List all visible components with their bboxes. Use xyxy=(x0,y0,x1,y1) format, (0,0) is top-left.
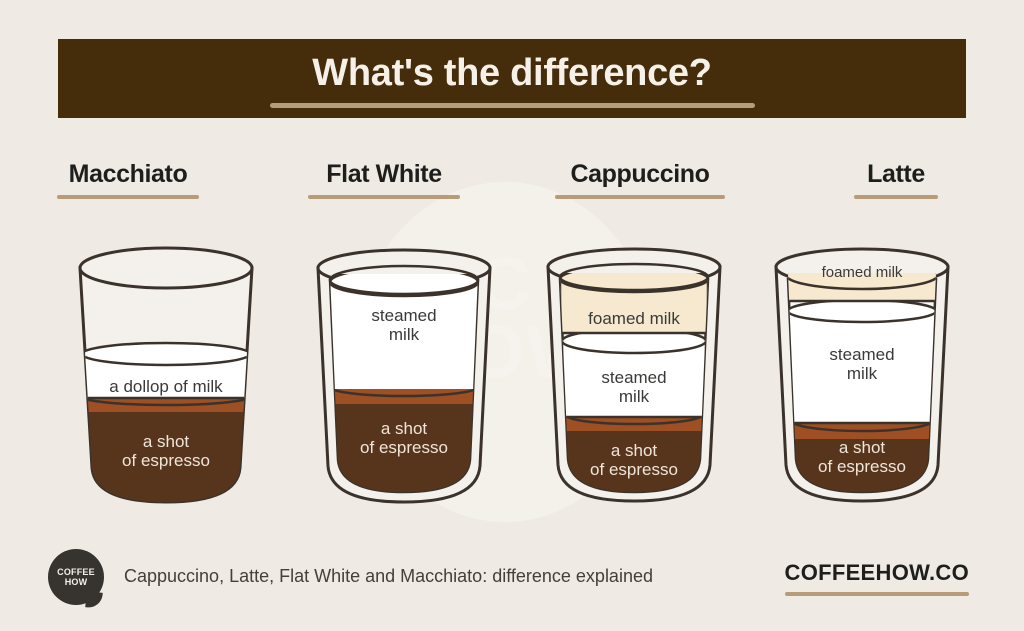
title-banner: What's the difference? xyxy=(58,39,966,118)
glass-latte xyxy=(762,249,962,514)
coffeehow-logo[interactable]: COFFEE HOW xyxy=(48,549,104,605)
infographic-page: C HOW What's the difference? Macchiato F… xyxy=(0,0,1024,631)
glass-cappuccino xyxy=(534,249,734,514)
column-heading-cappuccino: Cappuccino xyxy=(512,160,768,199)
heading-underline-macchiato xyxy=(57,195,199,199)
glass-flat-white xyxy=(304,252,504,514)
layer-foamed-milk-cappuccino xyxy=(560,266,708,333)
footer-caption: Cappuccino, Latte, Flat White and Macchi… xyxy=(124,566,653,587)
layer-steamed-milk-flat-white xyxy=(324,268,484,389)
column-headings: Macchiato Flat White Cappuccino Latte xyxy=(0,160,1024,199)
site-attribution[interactable]: COFFEEHOW.CO xyxy=(785,560,970,596)
heading-underline-latte xyxy=(854,195,938,199)
heading-label-macchiato: Macchiato xyxy=(0,160,256,189)
heading-underline-cappuccino xyxy=(555,195,725,199)
layer-espresso-macchiato xyxy=(76,387,256,516)
column-heading-macchiato: Macchiato xyxy=(0,160,256,199)
title-underline xyxy=(270,103,755,108)
heading-label-cappuccino: Cappuccino xyxy=(512,160,768,189)
glass-rim-macchiato xyxy=(80,248,252,288)
layer-milk-macchiato xyxy=(76,343,256,398)
heading-label-latte: Latte xyxy=(768,160,1024,189)
site-underline xyxy=(785,592,970,596)
glass-macchiato xyxy=(66,246,266,516)
column-heading-latte: Latte xyxy=(768,160,1024,199)
logo-line-1: COFFEE xyxy=(57,567,95,577)
heading-underline-flat-white xyxy=(308,195,460,199)
column-heading-flat-white: Flat White xyxy=(256,160,512,199)
layer-steamed-milk-cappuccino xyxy=(562,329,706,417)
site-url-text: COFFEEHOW.CO xyxy=(785,560,970,586)
layer-steamed-milk-latte xyxy=(788,300,936,423)
page-title: What's the difference? xyxy=(312,54,711,92)
logo-text: COFFEE HOW xyxy=(48,549,104,605)
logo-line-2: HOW xyxy=(65,577,88,587)
heading-label-flat-white: Flat White xyxy=(256,160,512,189)
